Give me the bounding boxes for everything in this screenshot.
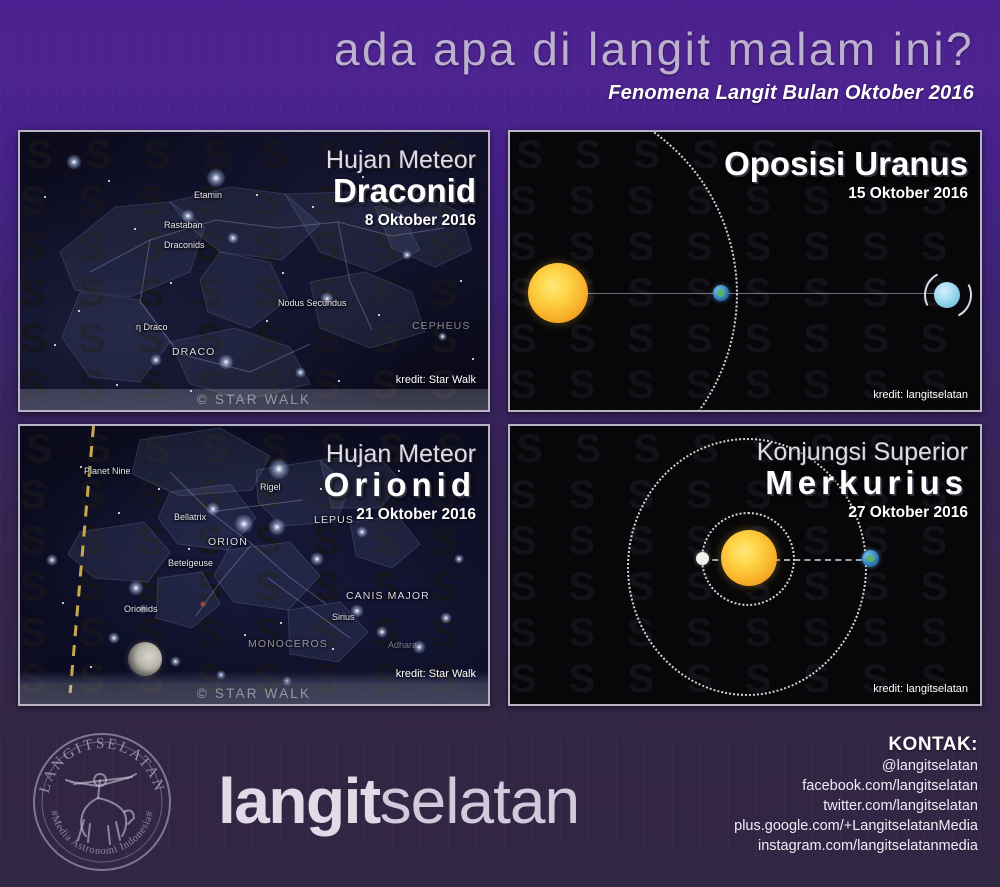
page-subtitle: Fenomena Langit Bulan Oktober 2016 [608, 82, 974, 105]
star-label-nodus-secundus: Nodus Secundus [278, 298, 347, 308]
panel-heading-orionid: Hujan Meteor Orionid 21 Oktober 2016 [324, 442, 476, 526]
brand-wordmark: langitselatan [218, 764, 579, 838]
starwalk-watermark-bar-1: © STAR WALK [20, 389, 488, 410]
earth [862, 550, 879, 567]
panel-name: Orionid [324, 467, 476, 503]
credit-orionid: kredit: Star Walk [396, 668, 476, 680]
star-label-rastaban: Rastaban [164, 220, 203, 230]
panel-date: 21 Oktober 2016 [324, 503, 476, 526]
contact-handle[interactable]: @langitselatan [734, 756, 978, 776]
star-label-draconids: Draconids [164, 240, 205, 250]
panel-kicker: Hujan Meteor [326, 148, 476, 173]
star-label-eta-draco: η Draco [136, 322, 168, 332]
contact-googleplus[interactable]: plus.google.com/+LangitselatanMedia [734, 816, 978, 836]
constellation-label-canis-major: CANIS MAJOR [346, 590, 430, 602]
star-label-orionids: Orionids [124, 604, 158, 614]
credit-draconid: kredit: Star Walk [396, 374, 476, 386]
panel-date: 8 Oktober 2016 [326, 209, 476, 232]
sun [721, 530, 777, 586]
contact-facebook[interactable]: facebook.com/langitselatan [734, 776, 978, 796]
poster-header: ada apa di langit malam ini? Fenomena La… [0, 0, 1000, 120]
panel-heading-uranus: Oposisi Uranus 15 Oktober 2016 [724, 146, 968, 205]
mercury [696, 552, 709, 565]
constellation-label-orion: ORION [208, 536, 248, 548]
panel-heading-merkurius: Konjungsi Superior Merkurius 27 Oktober … [757, 440, 968, 524]
starwalk-watermark-bar-2: © STAR WALK [20, 683, 488, 704]
panel-kicker: Konjungsi Superior [757, 440, 968, 465]
earth [713, 285, 729, 301]
svg-text:#Media Astronomi Indonesia#: #Media Astronomi Indonesia# [48, 809, 156, 857]
panel-date: 15 Oktober 2016 [724, 182, 968, 205]
panel-draconid[interactable]: SSSSSSSSSSSSSSSS SSSSSSSSSSSSSSSS SSSSSS… [18, 130, 490, 412]
contact-twitter[interactable]: twitter.com/langitselatan [734, 796, 978, 816]
contact-heading: KONTAK: [734, 734, 978, 756]
sun [528, 263, 588, 323]
poster-footer: LANGITSELATAN #Media Astronomi Indonesia… [0, 712, 1000, 887]
star-label-planet-nine: Planet Nine [84, 466, 131, 476]
wordmark-thin: selatan [380, 765, 579, 837]
panel-name: Merkurius [757, 465, 968, 501]
star-label-bellatrix: Bellatrix [174, 512, 206, 522]
sun-uranus-sightline [570, 293, 950, 294]
uranus [934, 282, 960, 308]
infographic-poster: ada apa di langit malam ini? Fenomena La… [0, 0, 1000, 887]
star-label-adhara: Adhara [388, 640, 417, 650]
constellation-label-monoceros: MONOCEROS [248, 638, 328, 650]
star-label-rigel: Rigel [260, 482, 281, 492]
credit-merkurius: kredit: langitselatan [873, 683, 968, 695]
credit-uranus: kredit: langitselatan [873, 389, 968, 401]
langitselatan-logo[interactable]: LANGITSELATAN #Media Astronomi Indonesia… [28, 728, 176, 876]
logo-arc-bottom: #Media Astronomi Indonesia# [48, 809, 156, 857]
panel-kicker: Hujan Meteor [324, 442, 476, 467]
contact-block: KONTAK: @langitselatan facebook.com/lang… [734, 734, 978, 856]
panel-orionid[interactable]: SSSSSSSSSSSSSSSS SSSSSSSSSSSSSSSS SSSSSS… [18, 424, 490, 706]
starwalk-watermark-text: © STAR WALK [197, 392, 311, 407]
contact-instagram[interactable]: instagram.com/langitselatanmedia [734, 836, 978, 856]
star-label-betelgeuse: Betelgeuse [168, 558, 213, 568]
panel-heading-draconid: Hujan Meteor Draconid 8 Oktober 2016 [326, 148, 476, 232]
panel-name: Draconid [326, 173, 476, 209]
constellation-label-draco: DRACO [172, 346, 215, 358]
panel-uranus[interactable]: SSSSSSSSSSSSSSSS SSSSSSSSSSSSSSSS SSSSSS… [508, 130, 982, 412]
page-title: ada apa di langit malam ini? [334, 22, 974, 76]
star-label-sirius: Sirius [332, 612, 355, 622]
starwalk-watermark-text: © STAR WALK [197, 686, 311, 701]
wordmark-bold: langit [218, 765, 380, 837]
panel-merkurius[interactable]: SSSSSSSSSSSSSSSS SSSSSSSSSSSSSSSS SSSSSS… [508, 424, 982, 706]
panel-date: 27 Oktober 2016 [757, 501, 968, 524]
panel-name: Oposisi Uranus [724, 146, 968, 182]
star-label-etamin: Etamin [194, 190, 222, 200]
constellation-label-cepheus: CEPHEUS [412, 320, 470, 332]
